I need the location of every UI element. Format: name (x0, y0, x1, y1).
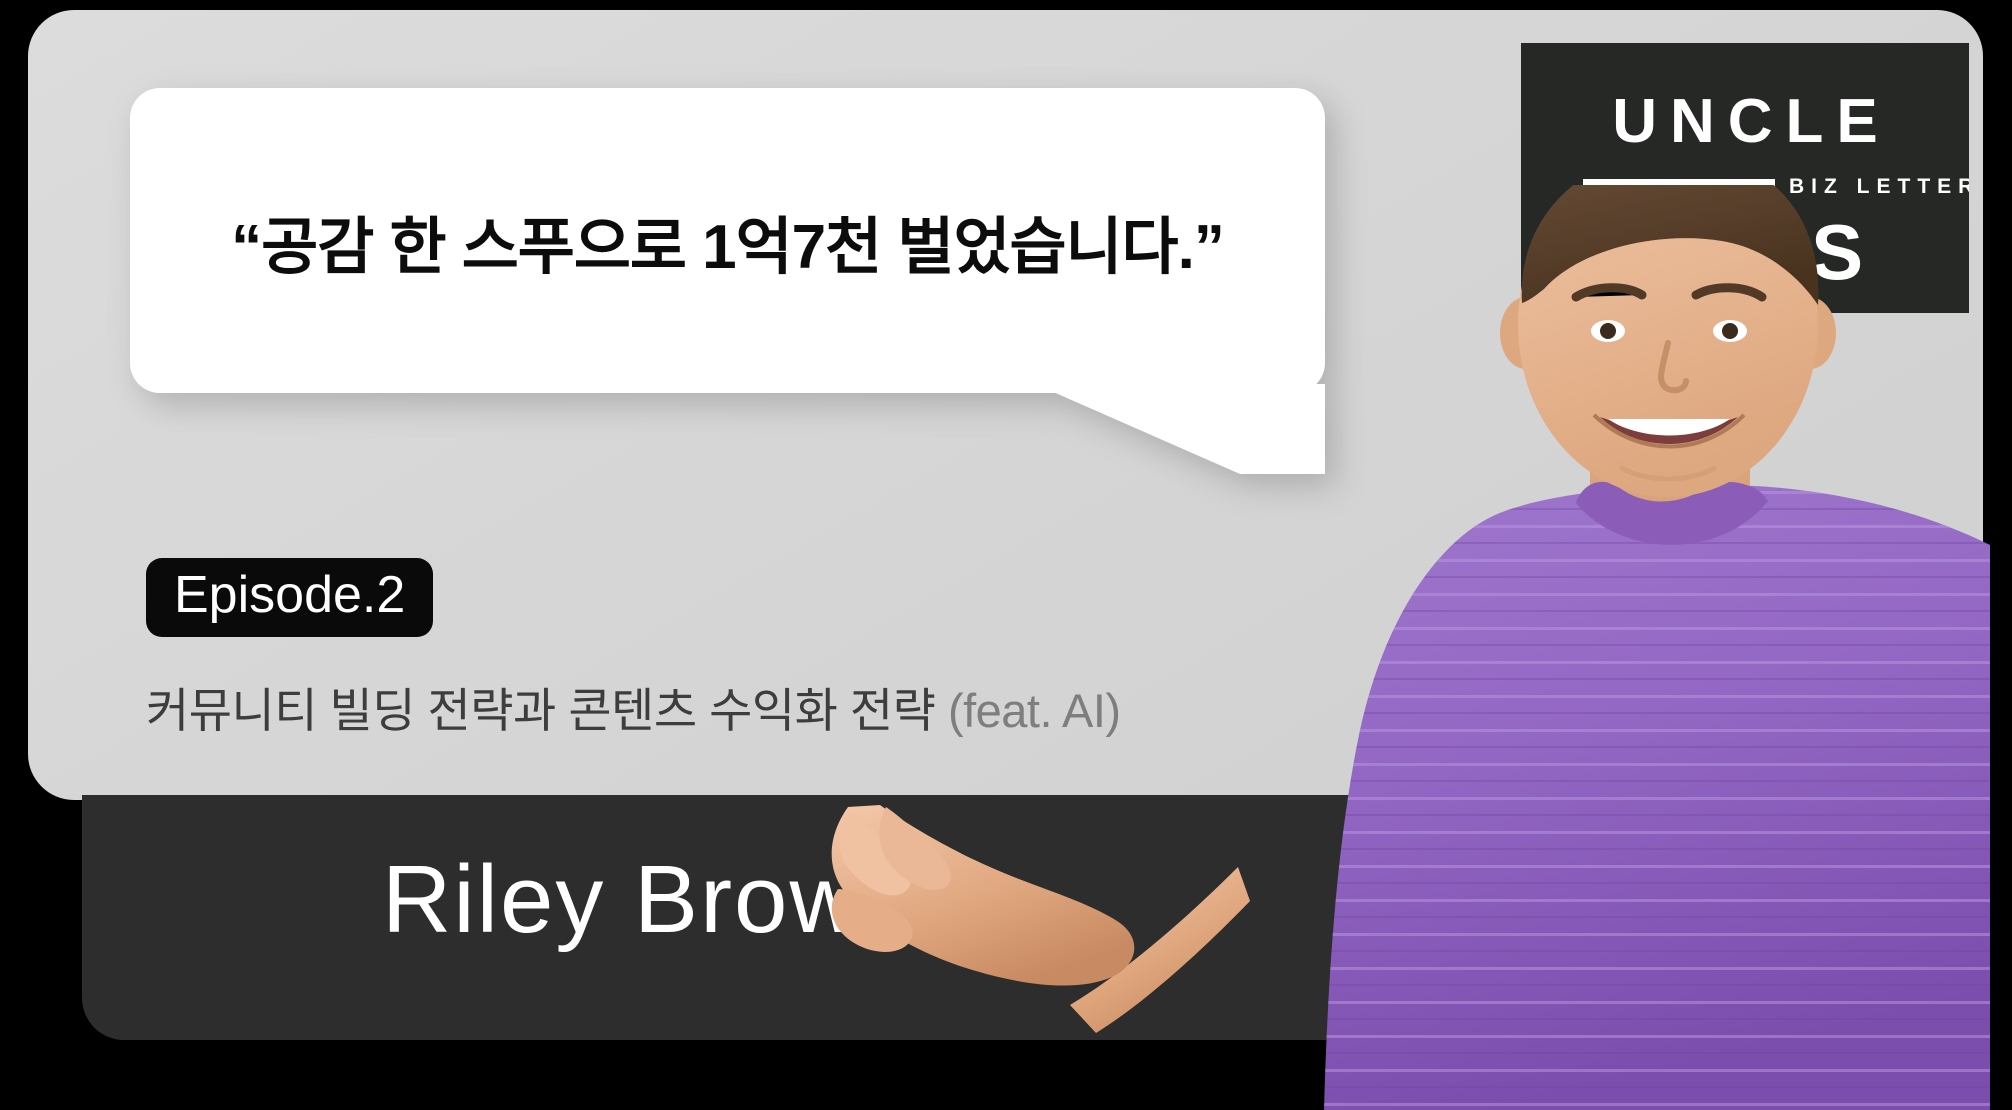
thumbnail-canvas: “공감 한 스푸으로 1억7천 벌었습니다.” Episode.2 커뮤니티 빌… (0, 0, 2012, 1110)
guest-name: Riley Brown (382, 845, 916, 955)
speech-bubble: “공감 한 스푸으로 1억7천 벌었습니다.” (130, 88, 1325, 473)
episode-subtitle-feat: (feat. AI) (948, 684, 1121, 737)
logo-middle-row: BIZ LETTER (1583, 175, 1949, 197)
logo-line-bizletter: BIZ LETTER (1789, 176, 1969, 197)
logo-line-uncle: UNCLE (1521, 91, 1969, 153)
episode-badge: Episode.2 (146, 558, 433, 637)
speech-bubble-tail (1035, 384, 1325, 474)
guest-name-bar: Riley Brown (82, 795, 1962, 1040)
quote-text: “공감 한 스푸으로 1억7천 벌었습니다.” (130, 88, 1325, 393)
episode-subtitle-main: 커뮤니티 빌딩 전략과 콘텐츠 수익화 전략 (146, 684, 948, 737)
episode-subtitle: 커뮤니티 빌딩 전략과 콘텐츠 수익화 전략 (feat. AI) (146, 672, 1121, 741)
logo-rule (1583, 179, 1775, 194)
content-card: “공감 한 스푸으로 1억7천 벌었습니다.” Episode.2 커뮤니티 빌… (28, 10, 1983, 800)
uncle-jobs-logo: UNCLE BIZ LETTER JOBS (1521, 43, 1969, 313)
logo-line-jobs: JOBS (1521, 213, 1969, 291)
